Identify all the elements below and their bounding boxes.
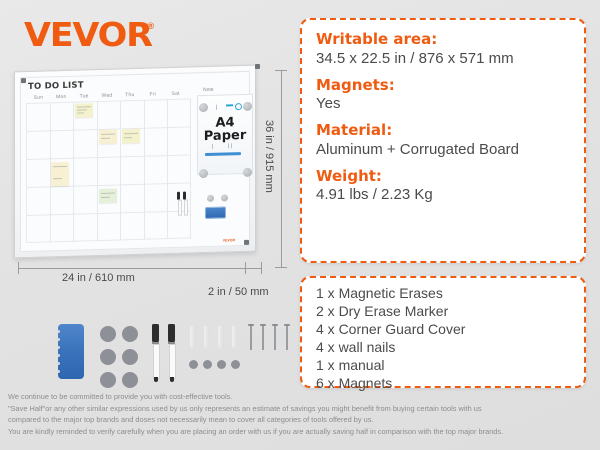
weekday-label: Mon [50, 94, 73, 101]
package-list-item: 4 x Corner Guard Cover [316, 321, 570, 339]
eraser-accessory-icon [58, 324, 84, 379]
width-dimension-line [18, 268, 246, 269]
calendar-grid [26, 98, 191, 243]
magnet-accessory-icon [122, 372, 138, 388]
spec-label-material: Material: [316, 121, 570, 140]
dry-erase-marker-icon [183, 192, 186, 214]
wall-anchor-icon [232, 326, 238, 348]
package-list-item: 4 x wall nails [316, 339, 570, 357]
spec-label-writable-area: Writable area: [316, 30, 570, 49]
magnet-icon [199, 169, 208, 178]
footer-disclaimer: We continue to be committed to provide y… [8, 392, 592, 439]
weekday-label: Thu [118, 92, 141, 99]
magnet-icon [221, 194, 228, 201]
marker-accessory-icon [152, 324, 159, 382]
spec-value-magnets: Yes [316, 95, 570, 114]
package-contents-card: 1 x Magnetic Erases 2 x Dry Erase Marker… [300, 276, 586, 388]
whiteboard-frame: TO DO LIST Sun Mon Tue Wed Thu Fri Sat N… [14, 65, 256, 259]
height-dimension-line [281, 70, 282, 268]
wall-anchor-icon [190, 326, 196, 348]
weekday-label: Sun [27, 94, 50, 101]
weekday-label: Tue [73, 93, 96, 100]
product-spec-sheet: VEVOR ® TO DO LIST Sun Mon Tue Wed Thu F… [0, 0, 600, 450]
sticky-note [122, 129, 140, 144]
vevor-logo: VEVOR ® [24, 18, 154, 51]
corner-guard-accessory-icon [217, 360, 226, 369]
magnet-accessory-icon [122, 349, 138, 365]
spec-value-weight: 4.91 lbs / 2.23 Kg [316, 186, 570, 205]
board-brand-mark: VEVOR [223, 238, 235, 242]
wall-anchor-icon [204, 326, 210, 348]
magnetic-eraser-icon [205, 206, 226, 219]
wall-anchor-icon [218, 326, 224, 348]
corner-guard-icon [21, 78, 26, 83]
corner-guard-accessory-icon [189, 360, 198, 369]
wall-nail-icon [274, 324, 276, 350]
dry-erase-marker-icon [177, 192, 180, 214]
magnet-accessory-icon [122, 326, 138, 342]
footer-line: "Save Half"or any other similar expressi… [8, 404, 592, 415]
weekday-label: Wed [96, 92, 119, 99]
cyan-bar-icon [226, 104, 233, 106]
weekday-label: Sat [164, 91, 187, 98]
magnet-icon [243, 168, 252, 177]
magnet-accessory-icon [100, 349, 116, 365]
package-list-item: 1 x manual [316, 357, 570, 375]
corner-guard-icon [255, 64, 260, 69]
note-column-label: Note [203, 87, 214, 93]
footer-line: We continue to be committed to provide y… [8, 392, 592, 403]
specifications-card: Writable area: 34.5 x 22.5 in / 876 x 57… [300, 18, 586, 263]
accessories-strip [0, 316, 292, 388]
marker-accessory-icon [168, 324, 175, 382]
magnet-icon [207, 195, 214, 202]
package-list-item: 6 x Magnets [316, 375, 570, 393]
spec-label-magnets: Magnets: [316, 76, 570, 95]
brand-name: VEVOR [24, 18, 152, 51]
weekday-label: Fri [141, 91, 164, 98]
sticky-note [75, 103, 93, 118]
depth-dimension-line [246, 268, 262, 269]
whiteboard-surface: TO DO LIST Sun Mon Tue Wed Thu Fri Sat N… [20, 71, 250, 252]
sticky-note [99, 189, 117, 204]
board-title: TO DO LIST [28, 80, 84, 92]
package-list-item: 2 x Dry Erase Marker [316, 303, 570, 321]
blue-highlight-bar [205, 152, 241, 156]
corner-guard-accessory-icon [231, 360, 240, 369]
width-dimension-label: 24 in / 610 mm [62, 272, 135, 284]
spec-value-writable-area: 34.5 x 22.5 in / 876 x 571 mm [316, 50, 570, 69]
paper-label-line2: Paper [198, 128, 252, 145]
spec-label-weight: Weight: [316, 167, 570, 186]
corner-guard-accessory-icon [203, 360, 212, 369]
spec-value-material: Aluminum + Corrugated Board [316, 141, 570, 160]
sticky-note [99, 130, 117, 145]
footer-line: You are kindly reminded to verify carefu… [8, 427, 592, 438]
magnet-accessory-icon [100, 372, 116, 388]
package-list-item: 1 x Magnetic Erases [316, 285, 570, 303]
cyan-circle-icon [235, 103, 242, 110]
height-dimension-label: 36 in / 915 mm [263, 120, 275, 193]
wall-nail-icon [262, 324, 264, 350]
magnet-accessory-icon [100, 326, 116, 342]
sticky-note [51, 162, 69, 187]
depth-dimension-label: 2 in / 50 mm [208, 286, 269, 298]
wall-nail-icon [250, 324, 252, 350]
corner-guard-icon [244, 240, 249, 245]
whiteboard-illustration: TO DO LIST Sun Mon Tue Wed Thu Fri Sat N… [10, 62, 262, 267]
wall-nail-icon [286, 324, 288, 350]
footer-line: compared to the major top brands and dos… [8, 415, 592, 426]
